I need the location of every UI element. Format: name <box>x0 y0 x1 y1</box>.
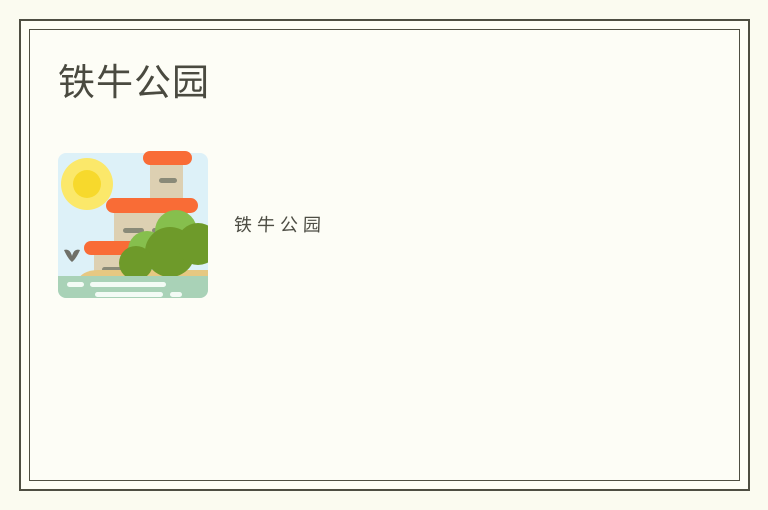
illustration-caption: 铁牛公园 <box>234 211 327 237</box>
page-outer-border: 铁牛公园 <box>19 19 750 491</box>
page-inner-border: 铁牛公园 <box>29 29 740 481</box>
illustration-row: 铁牛公园 <box>58 149 326 298</box>
page-title: 铁牛公园 <box>58 62 210 105</box>
page-content: 铁牛公园 <box>30 30 739 480</box>
park-landscape-illustration <box>58 149 208 298</box>
water-panel <box>58 276 208 298</box>
sun-icon <box>61 158 113 210</box>
